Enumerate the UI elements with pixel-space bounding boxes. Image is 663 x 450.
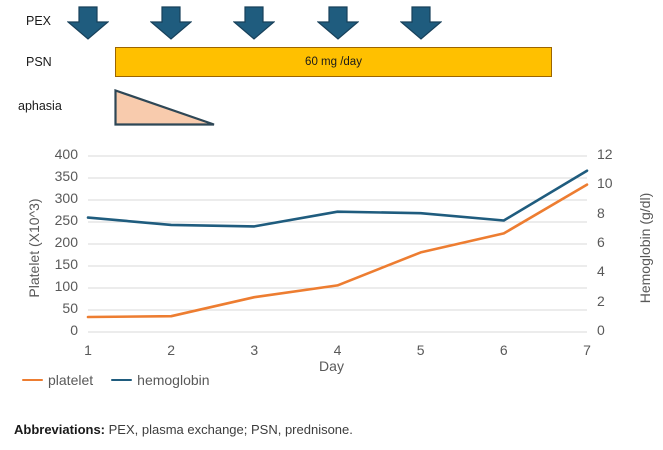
aphasia-wedge-icon	[114, 89, 216, 126]
legend-label-hemoglobin: hemoglobin	[137, 372, 209, 388]
y-axis-right-tick: 8	[597, 205, 637, 221]
chart-legend: platelethemoglobin	[22, 372, 210, 388]
y-axis-right-tick: 12	[597, 146, 637, 162]
x-axis-tick: 7	[572, 342, 602, 358]
y-axis-right-tick: 0	[597, 322, 637, 338]
legend-swatch-platelet	[22, 379, 43, 382]
y-axis-right-tick: 10	[597, 175, 637, 191]
timeline-row-label-pex: PEX	[26, 14, 51, 28]
abbreviations-footnote: Abbreviations: PEX, plasma exchange; PSN…	[14, 422, 353, 437]
legend-label-platelet: platelet	[48, 372, 93, 388]
x-axis-tick: 6	[489, 342, 519, 358]
y-axis-right-tick: 6	[597, 234, 637, 250]
y-axis-right-tick: 4	[597, 263, 637, 279]
y-axis-right-title: Hemoglobin (g/dl)	[637, 158, 653, 338]
pex-arrow-2	[150, 6, 192, 40]
psn-treatment-bar: 60 mg /day	[115, 47, 552, 77]
x-axis-tick: 5	[406, 342, 436, 358]
psn-dose-label: 60 mg /day	[116, 48, 551, 76]
x-axis-tick: 1	[73, 342, 103, 358]
pex-arrow-5	[400, 6, 442, 40]
x-axis-tick: 2	[156, 342, 186, 358]
series-line-hemoglobin	[88, 171, 587, 227]
chart-gridlines	[88, 156, 587, 332]
pex-arrow-4	[317, 6, 359, 40]
series-line-platelet	[88, 185, 587, 317]
y-axis-left-title: Platelet (X10^3)	[26, 158, 42, 338]
pex-arrow-3	[233, 6, 275, 40]
x-axis-tick: 3	[239, 342, 269, 358]
timeline-row-label-aphasia: aphasia	[18, 99, 62, 113]
abbreviations-label: Abbreviations:	[14, 422, 105, 437]
legend-item-platelet[interactable]: platelet	[22, 372, 93, 388]
lab-values-chart: 400350300250200150100500 121086420 12345…	[0, 140, 663, 400]
legend-swatch-hemoglobin	[111, 379, 132, 382]
y-axis-right-tick: 2	[597, 293, 637, 309]
timeline-row-label-psn: PSN	[26, 55, 52, 69]
pex-arrow-1	[67, 6, 109, 40]
abbreviations-text: PEX, plasma exchange; PSN, prednisone.	[105, 422, 353, 437]
treatment-timeline: PEX PSN aphasia 60 mg /day	[0, 0, 663, 140]
x-axis-tick: 4	[323, 342, 353, 358]
legend-item-hemoglobin[interactable]: hemoglobin	[111, 372, 209, 388]
